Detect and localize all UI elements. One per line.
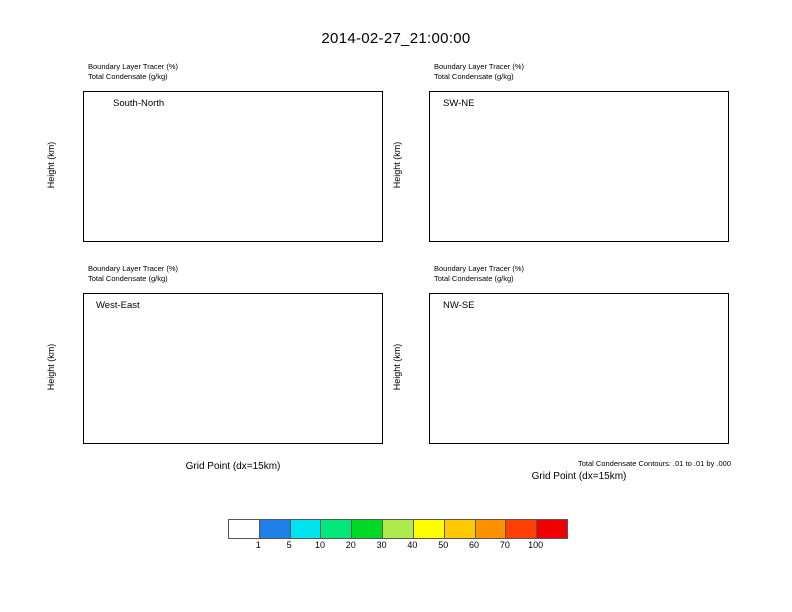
colorbar-tick-5: 5 — [275, 540, 303, 550]
colorbar-swatch-3 — [320, 520, 351, 538]
panel-label-south-north: South-North — [113, 98, 164, 109]
colorbar-tick-30: 30 — [368, 540, 396, 550]
colorbar-tick-10: 10 — [306, 540, 334, 550]
y-axis-label-west-east: Height (km) — [46, 322, 56, 412]
plot-area-sw-ne — [429, 91, 729, 242]
contour-note: Total Condensate Contours: .01 to .01 by… — [578, 459, 731, 468]
plot-area-nw-se — [429, 293, 729, 444]
colorbar-swatch-10 — [536, 520, 567, 538]
colorbar-tick-20: 20 — [337, 540, 365, 550]
panel-header-nw-se: Boundary Layer Tracer (%) Total Condensa… — [434, 264, 524, 283]
colorbar-swatch-5 — [382, 520, 413, 538]
plot-area-west-east — [83, 293, 383, 444]
plot-area-south-north — [83, 91, 383, 242]
panel-label-sw-ne: SW-NE — [443, 98, 475, 109]
header-condensate-label: Total Condensate (g/kg) — [88, 274, 178, 284]
colorbar-tick-40: 40 — [398, 540, 426, 550]
page-title: 2014-02-27_21:00:00 — [0, 30, 792, 47]
panel-label-west-east: West-East — [96, 300, 140, 311]
x-axis-label-nw-se: Grid Point (dx=15km) — [479, 471, 679, 482]
y-axis-label-south-north: Height (km) — [46, 120, 56, 210]
y-axis-label-sw-ne: Height (km) — [392, 120, 402, 210]
colorbar-swatch-6 — [413, 520, 444, 538]
colorbar-swatch-4 — [351, 520, 382, 538]
panel-header-south-north: Boundary Layer Tracer (%) Total Condensa… — [88, 62, 178, 81]
header-condensate-label: Total Condensate (g/kg) — [434, 72, 524, 82]
panel-label-nw-se: NW-SE — [443, 300, 475, 311]
panel-header-west-east: Boundary Layer Tracer (%) Total Condensa… — [88, 264, 178, 283]
header-condensate-label: Total Condensate (g/kg) — [434, 274, 524, 284]
header-tracer-label: Boundary Layer Tracer (%) — [88, 264, 178, 273]
colorbar — [228, 519, 568, 539]
colorbar-swatch-2 — [290, 520, 321, 538]
x-axis-label-west-east: Grid Point (dx=15km) — [133, 461, 333, 472]
colorbar-swatch-1 — [259, 520, 290, 538]
colorbar-tick-60: 60 — [460, 540, 488, 550]
colorbar-swatch-7 — [444, 520, 475, 538]
colorbar-swatch-8 — [475, 520, 506, 538]
figure-canvas: 2014-02-27_21:00:00 Boundary Layer Trace… — [0, 0, 792, 612]
header-condensate-label: Total Condensate (g/kg) — [88, 72, 178, 82]
y-axis-label-nw-se: Height (km) — [392, 322, 402, 412]
colorbar-tick-1: 1 — [244, 540, 272, 550]
colorbar-tick-70: 70 — [491, 540, 519, 550]
colorbar-tick-100: 100 — [522, 540, 550, 550]
header-tracer-label: Boundary Layer Tracer (%) — [88, 62, 178, 71]
header-tracer-label: Boundary Layer Tracer (%) — [434, 264, 524, 273]
colorbar-swatch-0 — [229, 520, 259, 538]
header-tracer-label: Boundary Layer Tracer (%) — [434, 62, 524, 71]
panel-header-sw-ne: Boundary Layer Tracer (%) Total Condensa… — [434, 62, 524, 81]
colorbar-swatch-9 — [505, 520, 536, 538]
colorbar-tick-50: 50 — [429, 540, 457, 550]
